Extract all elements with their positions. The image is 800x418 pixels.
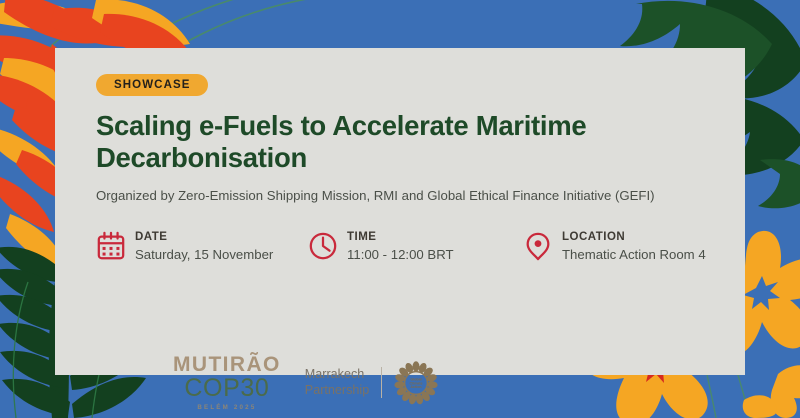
detail-date-label: DATE <box>135 231 273 244</box>
event-card: SHOWCASE Scaling e-Fuels to Accelerate M… <box>55 48 745 375</box>
detail-date: DATE Saturday, 15 November <box>96 230 308 262</box>
mutirao-wordmark: MUTIRÃO <box>173 354 281 375</box>
cop30-wordmark: COP30 <box>173 376 281 401</box>
card-content: SHOWCASE Scaling e-Fuels to Accelerate M… <box>96 74 717 205</box>
emblem-text-action: Action <box>411 385 422 389</box>
detail-location: LOCATION Thematic Action Room 4 <box>523 230 706 262</box>
logo-lockup: MUTIRÃO COP30 BELÉM 2025 Marrakech Partn… <box>173 354 438 411</box>
cop30-logo: MUTIRÃO COP30 BELÉM 2025 <box>173 354 281 411</box>
location-pin-icon <box>523 230 553 262</box>
global-climate-action-emblem: Global Climate Action <box>394 361 438 405</box>
marrakech-line-2: Partnership <box>305 383 369 399</box>
detail-date-text: DATE Saturday, 15 November <box>135 230 273 262</box>
detail-location-value: Thematic Action Room 4 <box>562 247 706 262</box>
detail-location-label: LOCATION <box>562 231 706 244</box>
detail-time-value: 11:00 - 12:00 BRT <box>347 247 454 262</box>
detail-time-text: TIME 11:00 - 12:00 BRT <box>347 230 454 262</box>
event-card-graphic: SHOWCASE Scaling e-Fuels to Accelerate M… <box>0 0 800 418</box>
detail-time-label: TIME <box>347 231 454 244</box>
detail-time: TIME 11:00 - 12:00 BRT <box>308 230 523 262</box>
calendar-icon <box>96 230 126 262</box>
marrakech-partnership-text: Marrakech Partnership <box>305 367 382 398</box>
detail-date-value: Saturday, 15 November <box>135 247 273 262</box>
marrakech-partnership-logo: Marrakech Partnership <box>305 361 438 405</box>
marrakech-line-1: Marrakech <box>305 367 369 383</box>
showcase-badge: SHOWCASE <box>96 74 208 96</box>
event-title: Scaling e-Fuels to Accelerate Maritime D… <box>96 110 706 174</box>
event-organizer: Organized by Zero-Emission Shipping Miss… <box>96 187 717 204</box>
event-details: DATE Saturday, 15 November TIME 11:00 - … <box>96 230 706 262</box>
belem-2025-label: BELÉM 2025 <box>173 405 281 411</box>
clock-icon <box>308 230 338 262</box>
detail-location-text: LOCATION Thematic Action Room 4 <box>562 230 706 262</box>
